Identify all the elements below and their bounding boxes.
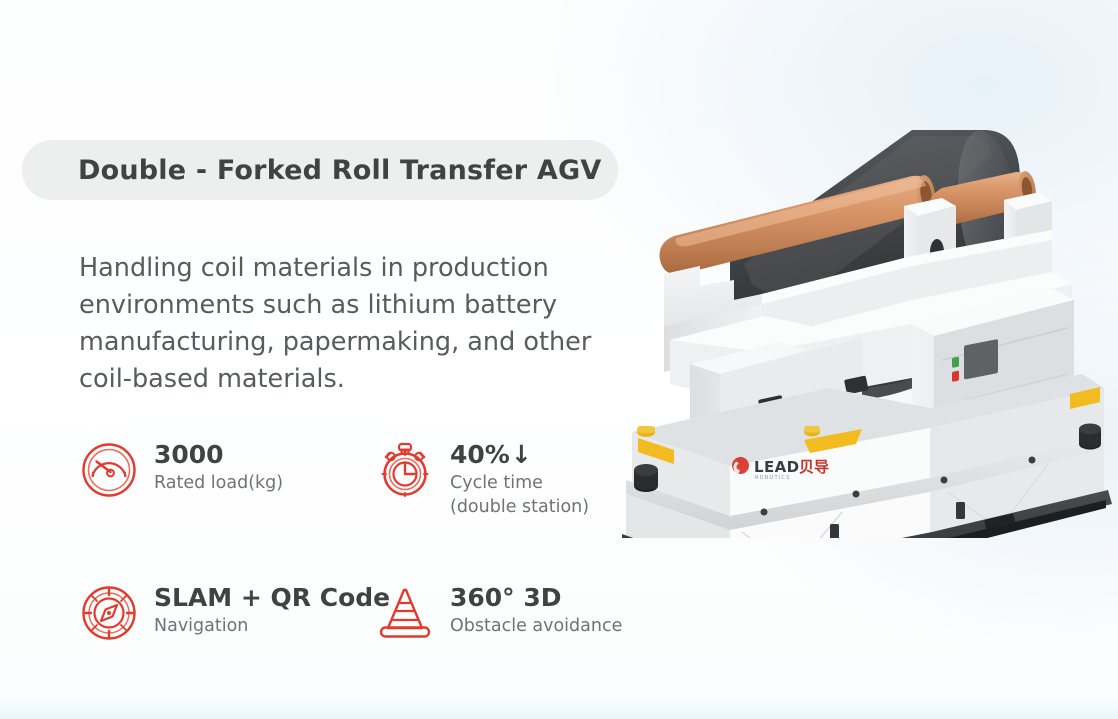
spec-text-obstacle-avoidance: 360° 3D Obstacle avoidance [450, 581, 622, 638]
product-description: Handling coil materials in production en… [79, 250, 639, 398]
down-arrow-icon: ↓ [511, 440, 532, 469]
product-slide: LEAD 贝导 ROBOTICS [0, 0, 1118, 719]
product-spec-list: 3000 Rated load(kg) [79, 438, 659, 643]
traffic-cone-icon [375, 583, 435, 643]
spec-item-rated-load: 3000 Rated load(kg) [79, 438, 375, 519]
spec-item-cycle-time: 40% ↓ Cycle time (double station) [375, 438, 655, 519]
spec-label: Navigation [154, 614, 390, 638]
spec-text-rated-load: 3000 Rated load(kg) [154, 438, 283, 495]
spec-label-secondary: (double station) [450, 495, 589, 519]
bottom-accent-band [0, 695, 1118, 719]
spec-value: 360° 3D [450, 583, 622, 612]
spec-value: 3000 [154, 440, 283, 469]
svg-text:贝导: 贝导 [799, 458, 829, 476]
spec-row-1: 3000 Rated load(kg) [79, 438, 659, 519]
spec-value: SLAM + QR Code [154, 583, 390, 612]
stopwatch-icon [375, 440, 435, 500]
page-title: Double - Forked Roll Transfer AGV [78, 155, 601, 186]
spec-value-text: 40% [450, 440, 510, 469]
spec-text-cycle-time: 40% ↓ Cycle time (double station) [450, 438, 589, 519]
spec-label: Obstacle avoidance [450, 614, 622, 638]
spec-label: Rated load(kg) [154, 471, 283, 495]
spec-value: 40% ↓ [450, 440, 589, 469]
spec-item-obstacle-avoidance: 360° 3D Obstacle avoidance [375, 581, 655, 643]
spec-value-text: SLAM + QR Code [154, 583, 390, 612]
spec-value-text: 3000 [154, 440, 224, 469]
spec-label: Cycle time [450, 471, 589, 495]
spec-value-text: 360° 3D [450, 583, 562, 612]
spec-item-navigation: SLAM + QR Code Navigation [79, 581, 375, 643]
spec-text-navigation: SLAM + QR Code Navigation [154, 581, 390, 638]
svg-text:ROBOTICS: ROBOTICS [755, 475, 790, 481]
svg-text:LEAD: LEAD [754, 458, 799, 476]
compass-icon [79, 583, 139, 643]
spec-row-spacer [79, 519, 659, 581]
product-title-pill: Double - Forked Roll Transfer AGV [22, 140, 618, 200]
product-image-double-forked-roll-transfer-agv: LEAD 贝导 ROBOTICS [612, 88, 1118, 538]
spec-row-2: SLAM + QR Code Navigation [79, 581, 659, 643]
gauge-icon [79, 440, 139, 500]
